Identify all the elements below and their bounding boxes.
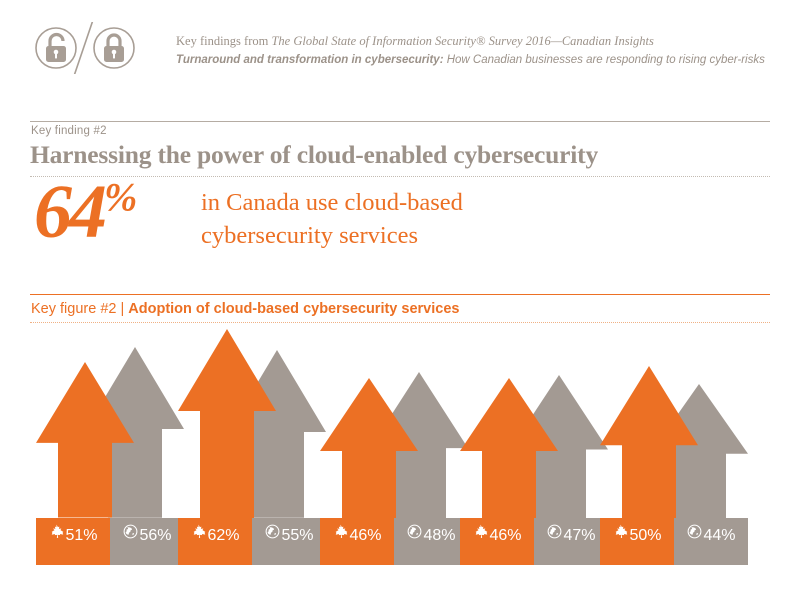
key-figure-dotted-rule (30, 322, 770, 323)
global-value: 55% (281, 527, 313, 544)
canada-value: 50% (629, 527, 661, 544)
page-title: Harnessing the power of cloud-enabled cy… (30, 140, 770, 170)
maple-leaf-icon (612, 523, 629, 540)
header-survey-title: The Global State of Information Security… (271, 34, 653, 48)
stat-number-value: 64 (34, 170, 104, 254)
chart-group: 46%47%Threat intelligence (460, 330, 608, 565)
key-finding-eyebrow: Key finding #2 (31, 125, 107, 137)
canada-value-cell: 62% (178, 518, 252, 565)
canada-arrow (320, 378, 418, 518)
canada-value-cell: 46% (460, 518, 534, 565)
value-band: 50%44% (600, 518, 748, 565)
padlock-logo-svg (30, 22, 140, 74)
value-band: 51%56% (36, 518, 184, 565)
value-band: 62%55% (178, 518, 326, 565)
key-figure-heading: Key figure #2 | Adoption of cloud-based … (31, 301, 459, 317)
arrow-chart: 51%56%Real-time monitoringand analytics6… (0, 330, 800, 565)
key-figure-title: Adoption of cloud-based cybersecurity se… (128, 301, 459, 317)
page-header: Key findings from The Global State of In… (0, 0, 800, 100)
locked-padlock-icon (104, 35, 124, 62)
canada-value-cell: 51% (36, 518, 110, 565)
header-survey-line: Key findings from The Global State of In… (176, 33, 776, 49)
header-subtitle-bold: Turnaround and transformation in cyberse… (176, 54, 444, 66)
header-survey-prefix: Key findings from (176, 34, 271, 48)
globe-icon (546, 523, 563, 540)
stat-percent-sign: % (104, 175, 136, 220)
global-value: 47% (563, 527, 595, 544)
header-text-block: Key findings from The Global State of In… (176, 33, 776, 68)
key-figure-top-rule (30, 294, 770, 295)
key-figure-label: Key figure #2 | (31, 301, 128, 317)
global-value-cell: 44% (674, 518, 748, 565)
globe-icon (686, 523, 703, 540)
global-value: 44% (703, 527, 735, 544)
canada-arrow (36, 362, 134, 518)
chart-group: 51%56%Real-time monitoringand analytics (36, 330, 184, 565)
chart-group: 62%55%Advancedauthentication (178, 330, 326, 565)
value-band: 46%48% (320, 518, 468, 565)
global-value-cell: 48% (394, 518, 468, 565)
global-value: 48% (423, 527, 455, 544)
globe-icon (264, 523, 281, 540)
headline-statistic: 64% in Canada use cloud-based cybersecur… (30, 178, 770, 258)
padlock-logo (30, 22, 140, 74)
header-subtitle-line: Turnaround and transformation in cyberse… (176, 52, 776, 68)
canada-value: 46% (349, 527, 381, 544)
infographic-page: Key findings from The Global State of In… (0, 0, 800, 600)
header-subtitle-rest: How Canadian businesses are responding t… (444, 54, 765, 66)
global-value-cell: 55% (252, 518, 326, 565)
stat-description-line1: in Canada use cloud-based (201, 186, 463, 219)
canada-arrow (178, 329, 276, 518)
canada-arrow (600, 366, 698, 519)
unlocked-padlock-icon (46, 35, 66, 63)
maple-leaf-icon (332, 523, 349, 540)
chart-group: 46%48%Identity and accessmanagement (320, 330, 468, 565)
key-finding-top-rule (30, 121, 770, 122)
stat-description: in Canada use cloud-based cybersecurity … (201, 186, 463, 252)
maple-leaf-icon (190, 523, 207, 540)
global-value-cell: 47% (534, 518, 608, 565)
global-value: 56% (139, 527, 171, 544)
canada-arrow (460, 378, 558, 518)
chart-group: 50%44%End-point protection (600, 330, 748, 565)
canada-value-cell: 50% (600, 518, 674, 565)
key-finding-dotted-rule (30, 176, 770, 177)
maple-leaf-icon (48, 523, 65, 540)
globe-icon (406, 523, 423, 540)
canada-value-cell: 46% (320, 518, 394, 565)
stat-number: 64% (34, 174, 136, 250)
maple-leaf-icon (472, 523, 489, 540)
slash-divider-icon (74, 22, 93, 74)
stat-description-line2: cybersecurity services (201, 219, 463, 252)
canada-value: 51% (65, 527, 97, 544)
value-band: 46%47% (460, 518, 608, 565)
canada-value: 46% (489, 527, 521, 544)
global-value-cell: 56% (110, 518, 184, 565)
globe-icon (122, 523, 139, 540)
canada-value: 62% (207, 527, 239, 544)
